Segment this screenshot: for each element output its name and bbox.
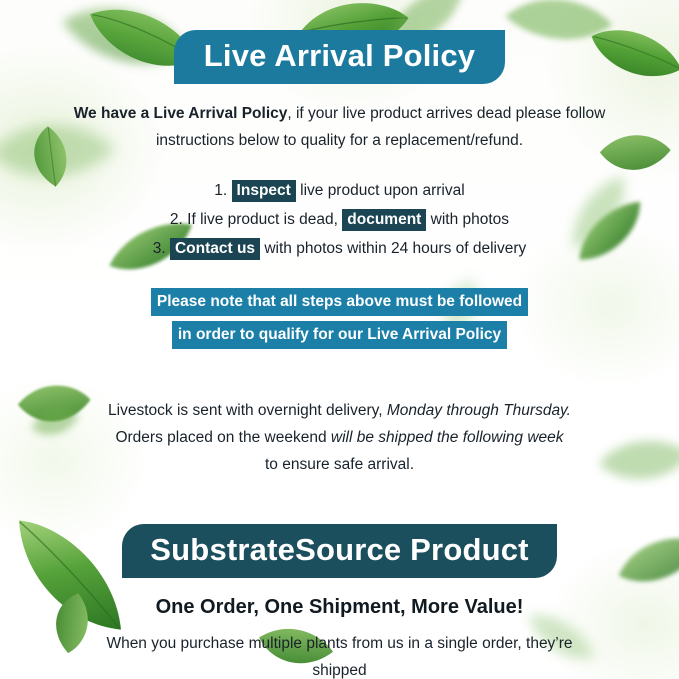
intro-rest-line1: , if your live product arrives dead plea… — [287, 105, 605, 122]
intro-line2: instructions below to quality for a repl… — [156, 132, 523, 149]
content-column: Live Arrival Policy We have a Live Arriv… — [0, 0, 679, 679]
product-section: SubstrateSource Product One Order, One S… — [80, 524, 600, 679]
notice-line-2: in order to qualify for our Live Arrival… — [172, 321, 507, 349]
livestock-paragraph: Livestock is sent with overnight deliver… — [90, 397, 590, 478]
list-item: 2. If live product is dead, document wit… — [170, 208, 509, 232]
substrate-source-product-banner: SubstrateSource Product — [122, 524, 556, 578]
step-highlight-contact-us: Contact us — [170, 238, 260, 260]
step-number: 3. — [153, 240, 166, 257]
steps-list: 1. Inspect live product upon arrival 2. … — [153, 179, 527, 261]
product-paragraph: When you purchase multiple plants from u… — [80, 630, 600, 679]
step-highlight-inspect: Inspect — [232, 180, 296, 202]
step-number: 1. — [214, 182, 227, 199]
product-tagline: One Order, One Shipment, More Value! — [156, 596, 524, 619]
notice-line-1: Please note that all steps above must be… — [151, 288, 528, 316]
livestock-line3: to ensure safe arrival. — [265, 456, 414, 473]
step-highlight-document: document — [342, 209, 426, 231]
policy-notice: Please note that all steps above must be… — [151, 288, 528, 349]
step-after: live product upon arrival — [300, 182, 465, 199]
livestock-line2-italic: will be shipped the following week — [331, 429, 564, 446]
list-item: 3. Contact us with photos within 24 hour… — [153, 237, 527, 261]
intro-paragraph: We have a Live Arrival Policy, if your l… — [70, 100, 610, 154]
live-arrival-policy-banner: Live Arrival Policy — [174, 30, 505, 84]
step-before: If live product is dead, — [187, 211, 338, 228]
list-item: 1. Inspect live product upon arrival — [214, 179, 464, 203]
infographic-page: Live Arrival Policy We have a Live Arriv… — [0, 0, 679, 679]
livestock-line1-a: Livestock is sent with overnight deliver… — [108, 402, 383, 419]
livestock-line2-a: Orders placed on the weekend — [115, 429, 326, 446]
step-after: with photos within 24 hours of delivery — [264, 240, 526, 257]
livestock-line1-italic: Monday through Thursday. — [387, 402, 571, 419]
step-number: 2. — [170, 211, 183, 228]
step-after: with photos — [431, 211, 509, 228]
product-line1: When you purchase multiple plants from u… — [106, 635, 572, 679]
intro-bold-lead: We have a Live Arrival Policy — [74, 105, 288, 122]
